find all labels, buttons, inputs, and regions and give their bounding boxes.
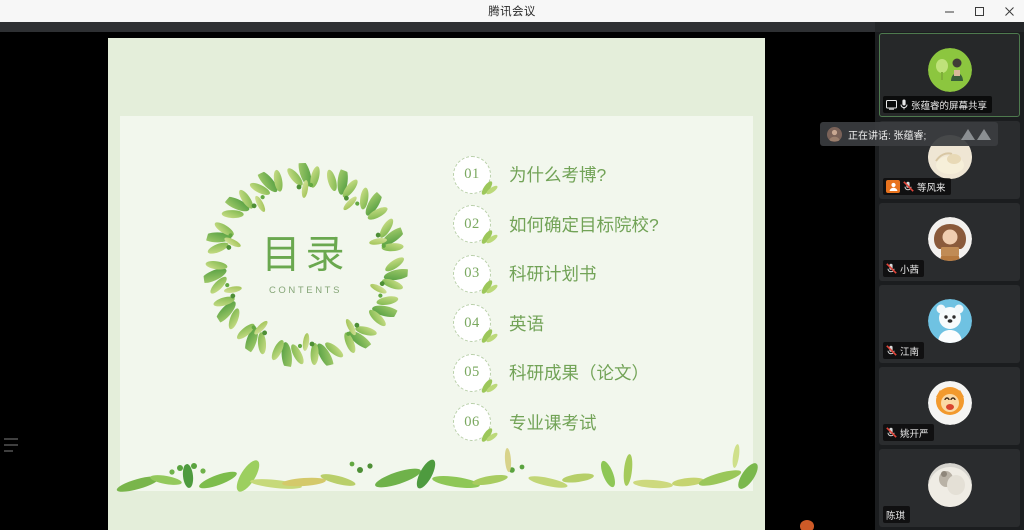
microphone-muted-icon — [886, 345, 897, 356]
toc-label: 专业课考试 — [509, 410, 597, 435]
toc-label: 如何确定目标院校? — [509, 212, 659, 237]
participant-tile[interactable]: 小茜 — [879, 203, 1020, 281]
toc-item: 05 科研成果（论文） — [453, 348, 743, 398]
participant-namebar: 小茜 — [883, 260, 924, 277]
toc-number: 06 — [464, 414, 480, 431]
table-of-contents: 01 为什么考博? 02 如何确定目标院校? — [453, 150, 743, 447]
toc-number-badge: 03 — [453, 255, 491, 293]
toc-number-badge: 06 — [453, 403, 491, 441]
microphone-muted-icon — [903, 181, 914, 192]
participant-namebar: 陈琪 — [883, 506, 910, 523]
rail-top-strip — [875, 22, 1024, 32]
minimize-button[interactable] — [934, 0, 964, 22]
toc-number: 02 — [464, 216, 480, 233]
participant-name: 姚开严 — [900, 426, 929, 440]
slide-title: 目录 — [236, 236, 376, 275]
maximize-button[interactable] — [964, 0, 994, 22]
participant-namebar: 张蕴睿的屏幕共享 — [883, 96, 992, 113]
avatar — [928, 381, 972, 425]
leaf-icon — [479, 327, 499, 345]
close-button[interactable] — [994, 0, 1024, 22]
leaf-icon — [479, 179, 499, 197]
participant-tile[interactable]: 江南 — [879, 285, 1020, 363]
list-menu-icon[interactable] — [4, 438, 22, 458]
participant-namebar: 姚开严 — [883, 424, 934, 441]
leaf-icon — [479, 377, 499, 395]
toc-label: 为什么考博? — [509, 162, 606, 187]
toc-item: 01 为什么考博? — [453, 150, 743, 200]
participant-name: 陈琪 — [886, 508, 905, 522]
speaker-avatar — [827, 127, 842, 142]
toc-number-badge: 01 — [453, 156, 491, 194]
active-speaker-toast: 正在讲话: 张蕴睿; — [820, 122, 998, 146]
avatar — [928, 463, 972, 507]
participant-namebar: 等风来 — [883, 178, 951, 195]
toc-item: 04 英语 — [453, 299, 743, 349]
participant-tile[interactable]: 陈琪 — [879, 449, 1020, 527]
microphone-muted-icon — [886, 427, 897, 438]
leaf-icon — [479, 278, 499, 296]
participant-tile[interactable]: 姚开严 — [879, 367, 1020, 445]
toc-number: 01 — [464, 166, 480, 183]
active-speaker-text: 正在讲话: 张蕴睿; — [848, 127, 926, 142]
avatar — [928, 217, 972, 261]
person-icon — [889, 182, 898, 191]
leaf-icon — [479, 228, 499, 246]
toc-number-badge: 02 — [453, 205, 491, 243]
microphone-muted-icon — [886, 263, 897, 274]
participant-name: 小茜 — [900, 262, 919, 276]
toc-number-badge: 04 — [453, 304, 491, 342]
wreath-graphic: 目录 CONTENTS — [203, 163, 408, 368]
toc-number: 05 — [464, 364, 480, 381]
avatar — [928, 48, 972, 92]
avatar — [928, 299, 972, 343]
slide-subtitle: CONTENTS — [236, 285, 376, 296]
participant-namebar: 江南 — [883, 342, 924, 359]
toc-label: 英语 — [509, 311, 544, 336]
participant-rail[interactable]: 张蕴睿的屏幕共享 等 — [875, 32, 1024, 530]
participant-tile[interactable]: 张蕴睿的屏幕共享 — [879, 33, 1020, 117]
shared-screen-stage[interactable]: 目录 CONTENTS 01 为什么考博? 02 — [0, 32, 875, 530]
window-titlebar: 腾讯会议 — [0, 0, 1024, 22]
host-badge — [886, 180, 900, 193]
toc-label: 科研计划书 — [509, 261, 597, 286]
screen-share-icon — [886, 100, 897, 110]
participant-name: 等风来 — [917, 180, 946, 194]
toc-number-badge: 05 — [453, 354, 491, 392]
toc-number: 03 — [464, 265, 480, 282]
toc-item: 02 如何确定目标院校? — [453, 200, 743, 250]
toolbar-strip — [0, 22, 1024, 32]
foliage-border-icon — [108, 440, 765, 500]
window-title: 腾讯会议 — [488, 3, 536, 19]
toc-item: 03 科研计划书 — [453, 249, 743, 299]
participant-name: 江南 — [900, 344, 919, 358]
participant-name: 张蕴睿的屏幕共享 — [911, 98, 987, 112]
wreath-center-text: 目录 CONTENTS — [236, 236, 376, 296]
window-controls — [934, 0, 1024, 22]
cursor-pointer — [800, 520, 814, 530]
microphone-icon — [900, 99, 908, 110]
sound-wave-icon — [961, 129, 991, 140]
toc-label: 科研成果（论文） — [509, 360, 649, 385]
toc-number: 04 — [464, 315, 480, 332]
presentation-slide: 目录 CONTENTS 01 为什么考博? 02 — [108, 38, 765, 530]
